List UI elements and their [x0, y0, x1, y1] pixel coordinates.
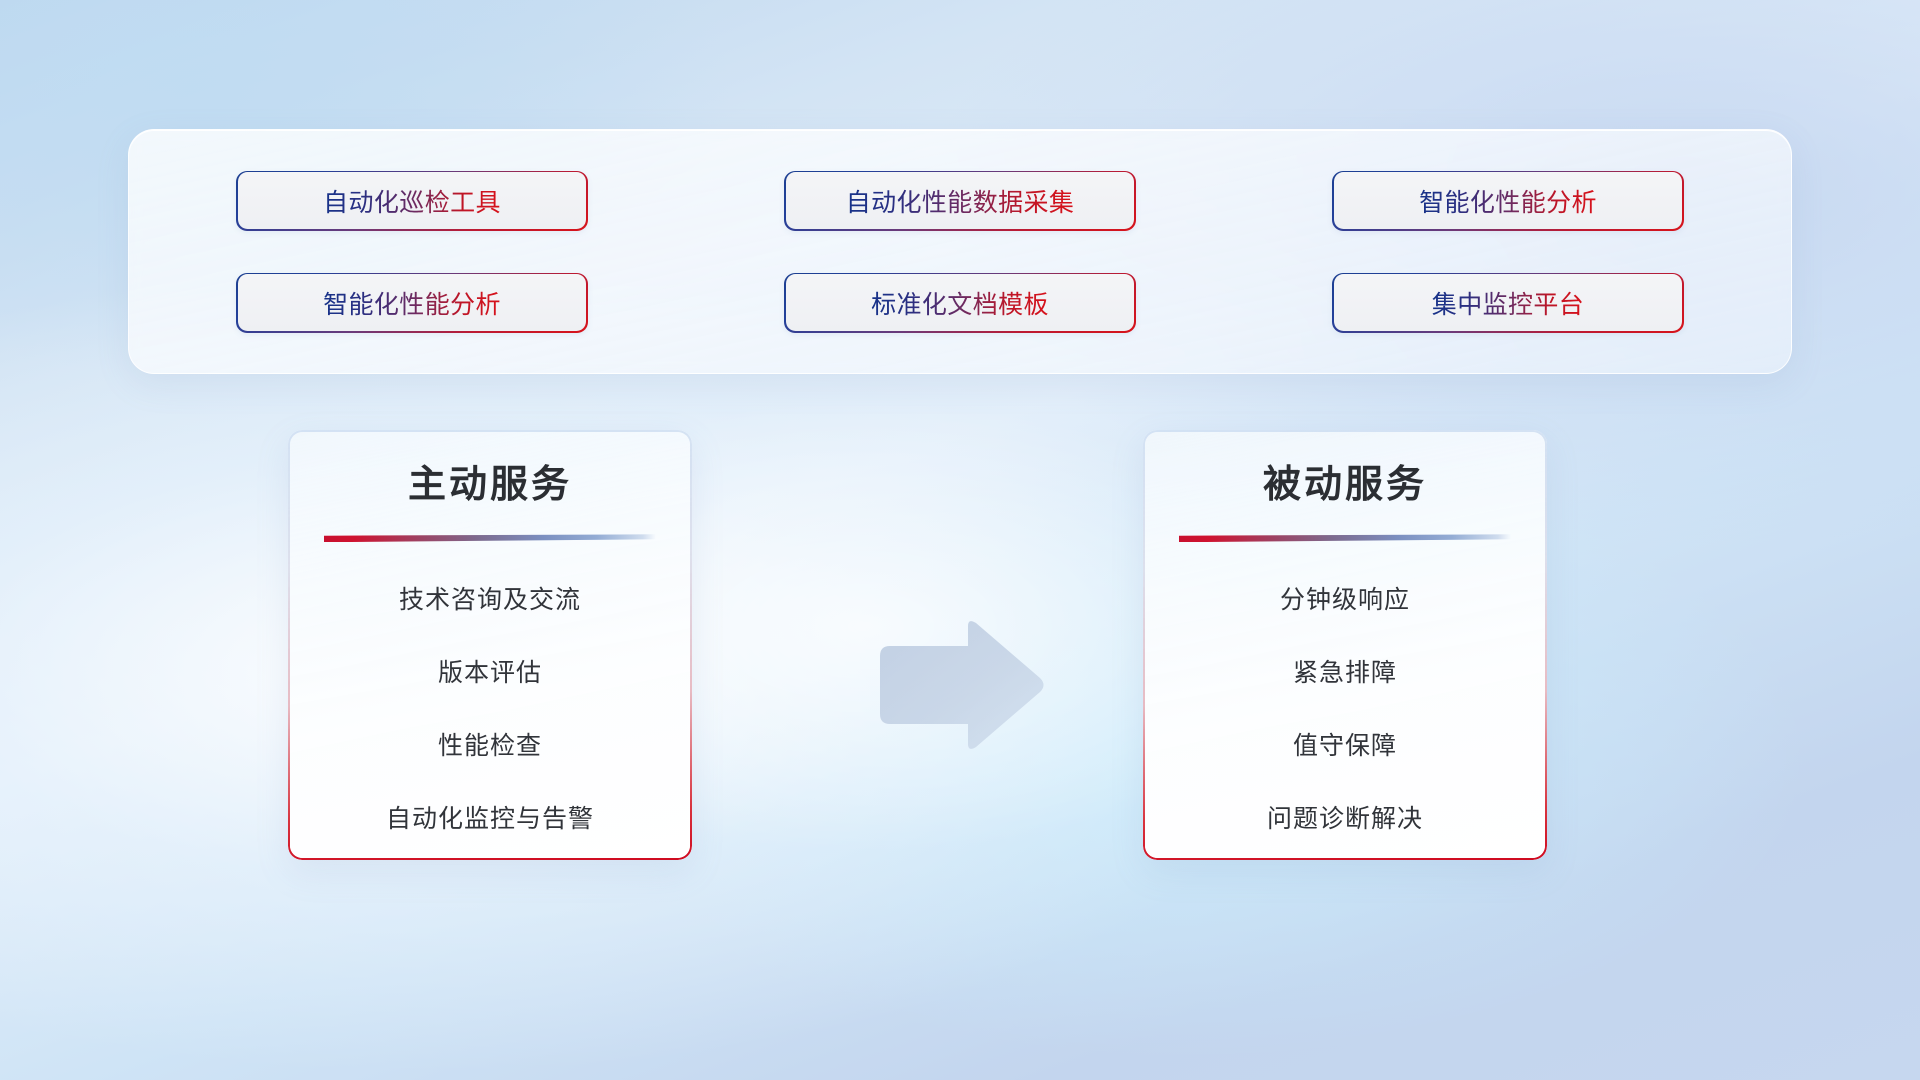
capability-pill-2[interactable]: 自动化性能数据采集 — [784, 171, 1136, 231]
list-item: 紧急排障 — [1175, 637, 1516, 710]
capability-pill-6[interactable]: 集中监控平台 — [1332, 273, 1684, 333]
list-item: 自动化监控与告警 — [320, 783, 661, 856]
capability-pill-1-surface: 自动化巡检工具 — [238, 172, 587, 229]
title-divider-gradient — [1179, 534, 1512, 542]
service-card-passive-body: 被动服务 分钟级响应 紧急排障 值守保障 问题诊断解决 SLA式服务 — [1145, 432, 1546, 859]
list-item: 问题诊断解决 — [1175, 783, 1516, 856]
list-item: 性能检查 — [320, 710, 661, 783]
flow-arrow-right-icon — [872, 620, 1047, 750]
service-card-active-body: 主动服务 技术咨询及交流 版本评估 性能检查 自动化监控与告警 健康巡检 — [290, 432, 691, 859]
list-item: 值守保障 — [1175, 710, 1516, 783]
list-item: 健康巡检 — [320, 856, 661, 858]
capability-pill-5-label: 标准化文档模板 — [871, 285, 1049, 321]
list-item: SLA式服务 — [1175, 856, 1516, 858]
capability-pill-2-surface: 自动化性能数据采集 — [786, 172, 1135, 229]
capability-pill-4-label: 智能化性能分析 — [323, 285, 501, 321]
capability-pill-2-label: 自动化性能数据采集 — [846, 183, 1075, 219]
capability-pill-4-surface: 智能化性能分析 — [238, 274, 587, 331]
capability-pill-1-label: 自动化巡检工具 — [323, 183, 501, 219]
infographic-canvas: 自动化巡检工具 自动化性能数据采集 智能化性能分析 智能化性能分析 — [0, 0, 1920, 1080]
capability-pill-6-surface: 集中监控平台 — [1334, 274, 1683, 331]
service-card-passive[interactable]: 被动服务 分钟级响应 紧急排障 值守保障 问题诊断解决 SLA式服务 — [1143, 430, 1547, 860]
capability-pill-3-label: 智能化性能分析 — [1419, 183, 1597, 219]
list-item: 版本评估 — [320, 637, 661, 710]
list-item: 分钟级响应 — [1175, 564, 1516, 637]
service-card-passive-list: 分钟级响应 紧急排障 值守保障 问题诊断解决 SLA式服务 — [1175, 564, 1516, 858]
service-card-passive-title: 被动服务 — [1175, 464, 1516, 508]
service-card-active[interactable]: 主动服务 技术咨询及交流 版本评估 性能检查 自动化监控与告警 健康巡检 — [288, 430, 692, 860]
capabilities-grid: 自动化巡检工具 自动化性能数据采集 智能化性能分析 智能化性能分析 — [236, 171, 1684, 333]
service-card-active-title: 主动服务 — [320, 464, 661, 508]
capability-pill-3[interactable]: 智能化性能分析 — [1332, 171, 1684, 231]
title-divider-gradient — [324, 534, 657, 542]
capability-pill-6-label: 集中监控平台 — [1432, 285, 1584, 321]
capability-pill-3-surface: 智能化性能分析 — [1334, 172, 1683, 229]
capability-pill-5-surface: 标准化文档模板 — [786, 274, 1135, 331]
capability-pill-1[interactable]: 自动化巡检工具 — [236, 171, 588, 231]
service-card-active-list: 技术咨询及交流 版本评估 性能检查 自动化监控与告警 健康巡检 — [320, 564, 661, 858]
list-item: 技术咨询及交流 — [320, 564, 661, 637]
capabilities-panel: 自动化巡检工具 自动化性能数据采集 智能化性能分析 智能化性能分析 — [128, 129, 1792, 374]
capability-pill-5[interactable]: 标准化文档模板 — [784, 273, 1136, 333]
capability-pill-4[interactable]: 智能化性能分析 — [236, 273, 588, 333]
